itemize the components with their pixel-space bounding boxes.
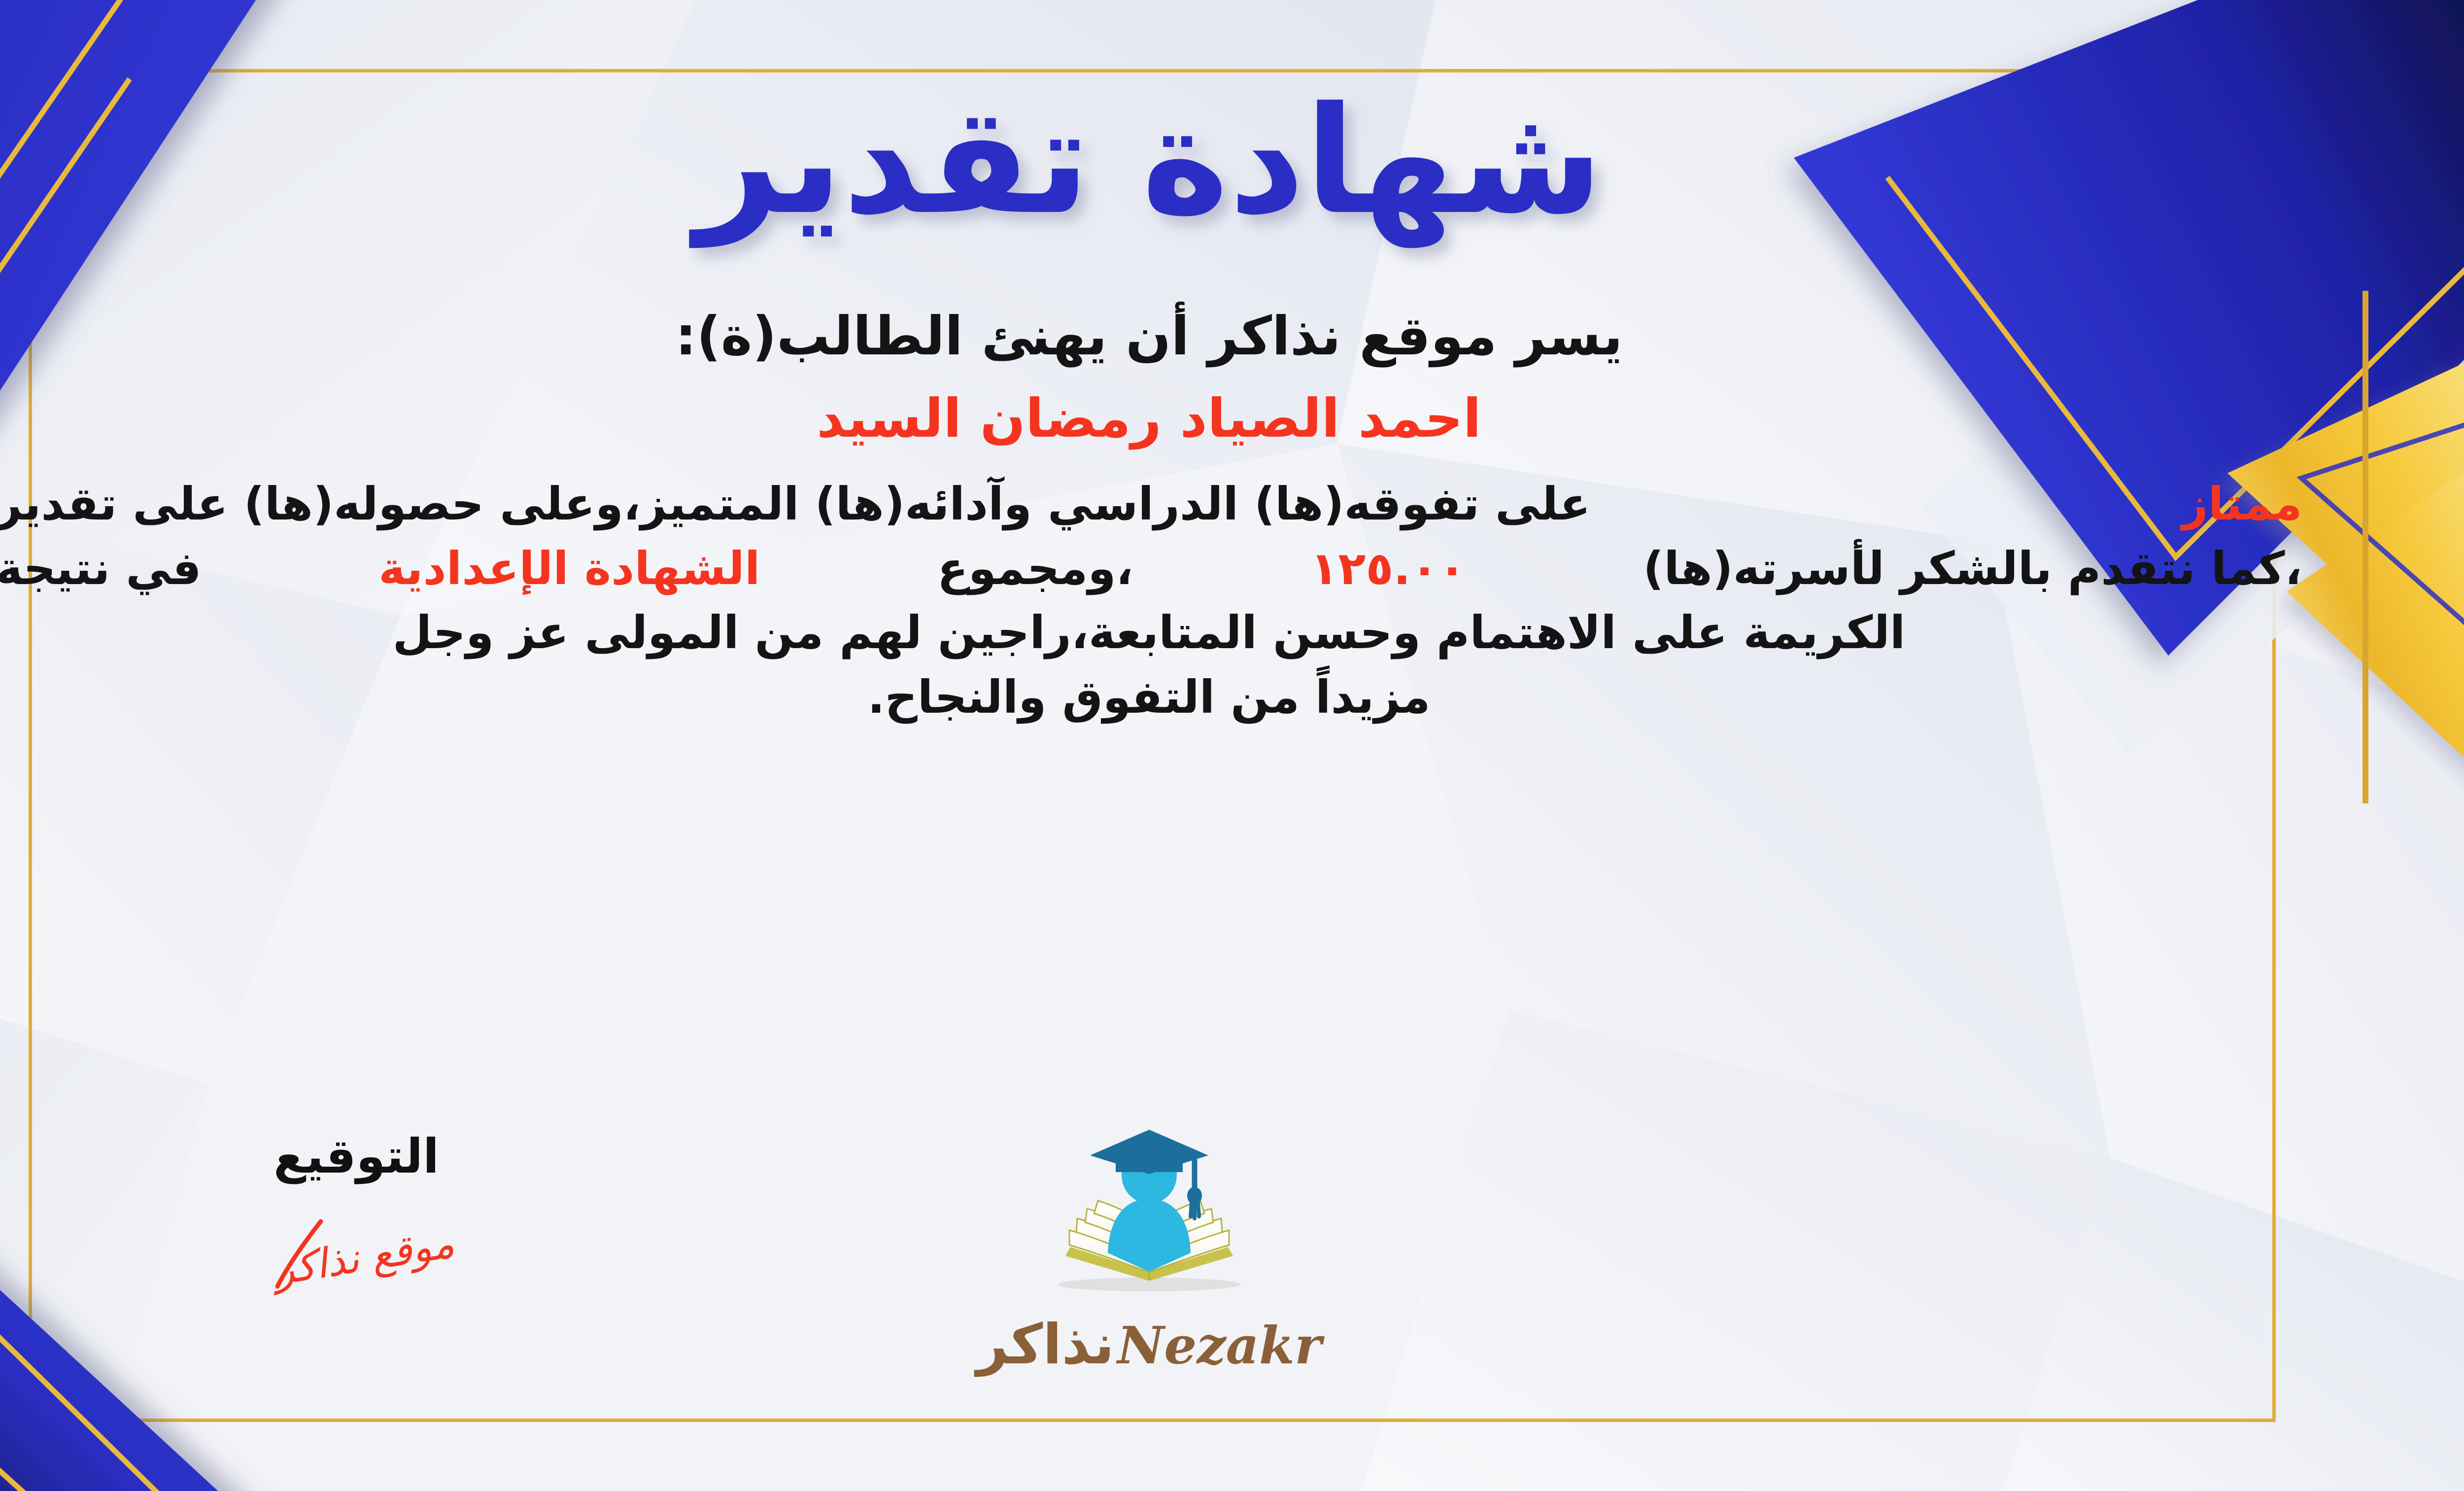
exam-name-value: الشهادة الإعدادية [378, 537, 760, 601]
total-score-value: ١٢٥.٠٠ [1310, 537, 1466, 601]
logo-word-latin: Nezakr [1117, 1320, 1322, 1371]
grade-value: ممتاز [2182, 472, 2302, 537]
brand-logo: Nezakr نذاكر [972, 1124, 1327, 1372]
body-line-4: مزيداً من التفوق والنجاح. [0, 665, 2302, 730]
signature-label: التوقيع [159, 1129, 553, 1184]
body-line-2-mid: ،ومجموع [937, 537, 1133, 601]
body-line-1-text: على تفوقه(ها) الدراسي وآدائه(ها) المتميز… [0, 472, 1591, 537]
body-line-1: ممتاز على تفوقه(ها) الدراسي وآدائه(ها) ا… [0, 472, 2302, 537]
certificate-body: ممتاز على تفوقه(ها) الدراسي وآدائه(ها) ا… [0, 472, 2302, 730]
body-line-2-head: في نتيجة [0, 537, 202, 601]
logo-graduate-book-icon [1011, 1124, 1287, 1316]
certificate-canvas: شهادة تقدير يسر موقع نذاكر أن يهنئ الطال… [0, 0, 2464, 1491]
signature-block: التوقيع موقع نذاكر [159, 1129, 553, 1296]
certificate-title-text: شهادة تقدير [688, 75, 1603, 249]
signature-mark: موقع نذاكر [159, 1213, 553, 1296]
body-line-3: الكريمة على الاهتمام وحسن المتابعة،راجين… [0, 601, 2302, 665]
logo-word-arabic: نذاكر [976, 1317, 1114, 1372]
body-line-2: ،كما نتقدم بالشكر لأسرته(ها) ١٢٥.٠٠ ،ومج… [0, 537, 2302, 601]
certificate-footer: التوقيع موقع نذاكر [0, 1129, 2464, 1434]
student-name: احمد الصياد رمضان السيد [817, 388, 1481, 450]
logo-wordmark: Nezakr نذاكر [976, 1317, 1321, 1372]
body-line-2-tail: ،كما نتقدم بالشكر لأسرته(ها) [1643, 537, 2302, 601]
certificate-title: شهادة تقدير [0, 59, 2464, 276]
greeting-line: يسر موقع نذاكر أن يهنئ الطالب(ة): [675, 306, 1623, 367]
